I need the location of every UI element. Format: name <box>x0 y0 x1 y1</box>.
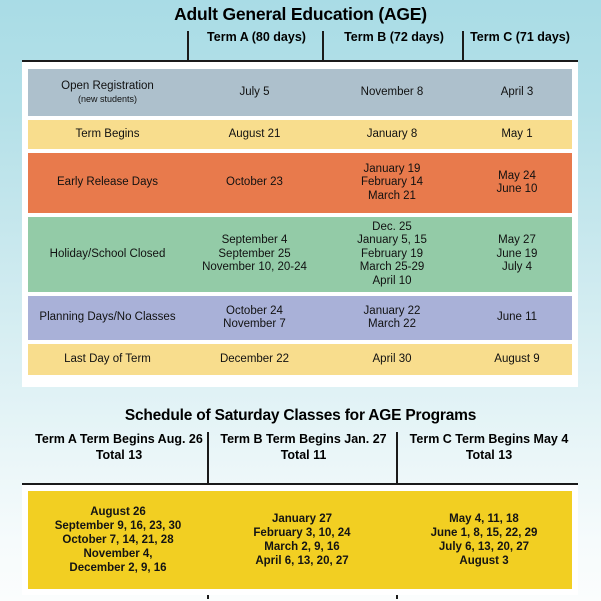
saturday-term-c-total: Total 13 <box>466 448 512 462</box>
saturday-dates-row: August 26 September 9, 16, 23, 30 Octobe… <box>28 491 572 589</box>
saturday-term-c-begins: Term Begins May 4 <box>455 432 568 446</box>
cell-early-release-term-a: October 23 <box>187 153 322 213</box>
cell-planning-term-a: October 24 November 7 <box>187 296 322 340</box>
cell-holiday-term-b: Dec. 25 January 5, 15 February 19 March … <box>322 217 462 292</box>
row-label-text: Open Registration <box>61 80 154 94</box>
term-c-name: Term C <box>470 30 512 44</box>
table-row-early-release-days: Early Release Days October 23 January 19… <box>28 153 572 213</box>
column-header-term-c: Term C (71 days) <box>465 30 575 45</box>
cell-planning-term-b: January 22 March 22 <box>322 296 462 340</box>
cell-open-registration-term-a: July 5 <box>187 69 322 116</box>
saturday-term-b-name: Term B <box>220 432 262 446</box>
saturday-term-a-total: Total 13 <box>96 448 142 462</box>
saturday-dates-term-c: May 4, 11, 18 June 1, 8, 15, 22, 29 July… <box>396 491 572 589</box>
table-row-term-begins: Term Begins August 21 January 8 May 1 <box>28 120 572 149</box>
cell-holiday-term-a: September 4 September 25 November 10, 20… <box>187 217 322 292</box>
table-row-holiday-school-closed: Holiday/School Closed September 4 Septem… <box>28 217 572 292</box>
row-label-last-day-of-term: Last Day of Term <box>28 344 187 375</box>
row-label-open-registration: Open Registration (new students) <box>28 69 187 116</box>
cell-holiday-term-c: May 27 June 19 July 4 <box>462 217 572 292</box>
row-label-term-begins: Term Begins <box>28 120 187 149</box>
table-row-planning-days: Planning Days/No Classes October 24 Nove… <box>28 296 572 340</box>
saturday-term-a-begins: Term Begins Aug. 26 <box>80 432 203 446</box>
term-a-days: (80 days) <box>252 30 306 44</box>
saturday-schedule-section: Term A Term Begins Aug. 26 Total 13 Term… <box>0 396 601 601</box>
saturday-term-b-begins: Term Begins Jan. 27 <box>266 432 387 446</box>
row-label-holiday-school-closed: Holiday/School Closed <box>28 217 187 292</box>
column-header-term-b: Term B (72 days) <box>325 30 463 45</box>
cell-term-begins-term-b: January 8 <box>322 120 462 149</box>
saturday-dates-term-b: January 27 February 3, 10, 24 March 2, 9… <box>208 491 396 589</box>
cell-open-registration-term-c: April 3 <box>462 69 572 116</box>
cell-early-release-term-c: May 24 June 10 <box>462 153 572 213</box>
calendar-table: Open Registration (new students) July 5 … <box>22 60 578 387</box>
cell-last-day-term-b: April 30 <box>322 344 462 375</box>
cell-last-day-term-a: December 22 <box>187 344 322 375</box>
cell-term-begins-term-a: August 21 <box>187 120 322 149</box>
cell-planning-term-c: June 11 <box>462 296 572 340</box>
cell-last-day-term-c: August 9 <box>462 344 572 375</box>
row-label-planning-days: Planning Days/No Classes <box>28 296 187 340</box>
cell-open-registration-term-b: November 8 <box>322 69 462 116</box>
saturday-dates-term-a: August 26 September 9, 16, 23, 30 Octobe… <box>28 491 208 589</box>
cell-term-begins-term-c: May 1 <box>462 120 572 149</box>
age-calendar-section: Adult General Education (AGE) Term A (80… <box>0 0 601 396</box>
term-a-name: Term A <box>207 30 248 44</box>
saturday-column-header-term-c: Term C Term Begins May 4 Total 13 <box>399 432 579 463</box>
saturday-column-header-term-b: Term B Term Begins Jan. 27 Total 11 <box>210 432 397 463</box>
cell-early-release-term-b: January 19 February 14 March 21 <box>322 153 462 213</box>
term-b-name: Term B <box>344 30 386 44</box>
saturday-term-a-name: Term A <box>35 432 76 446</box>
page-title: Adult General Education (AGE) <box>0 4 601 25</box>
table-row-open-registration: Open Registration (new students) July 5 … <box>28 69 572 116</box>
saturday-term-c-name: Term C <box>410 432 452 446</box>
saturday-column-header-term-a: Term A Term Begins Aug. 26 Total 13 <box>30 432 208 463</box>
table-row-last-day-of-term: Last Day of Term December 22 April 30 Au… <box>28 344 572 375</box>
term-c-days: (71 days) <box>516 30 570 44</box>
row-label-early-release-days: Early Release Days <box>28 153 187 213</box>
saturday-dates-table: August 26 September 9, 16, 23, 30 Octobe… <box>22 483 578 595</box>
row-label-subtext: (new students) <box>61 94 154 105</box>
column-header-term-a: Term A (80 days) <box>190 30 323 45</box>
term-b-days: (72 days) <box>390 30 444 44</box>
saturday-term-b-total: Total 11 <box>281 448 327 462</box>
